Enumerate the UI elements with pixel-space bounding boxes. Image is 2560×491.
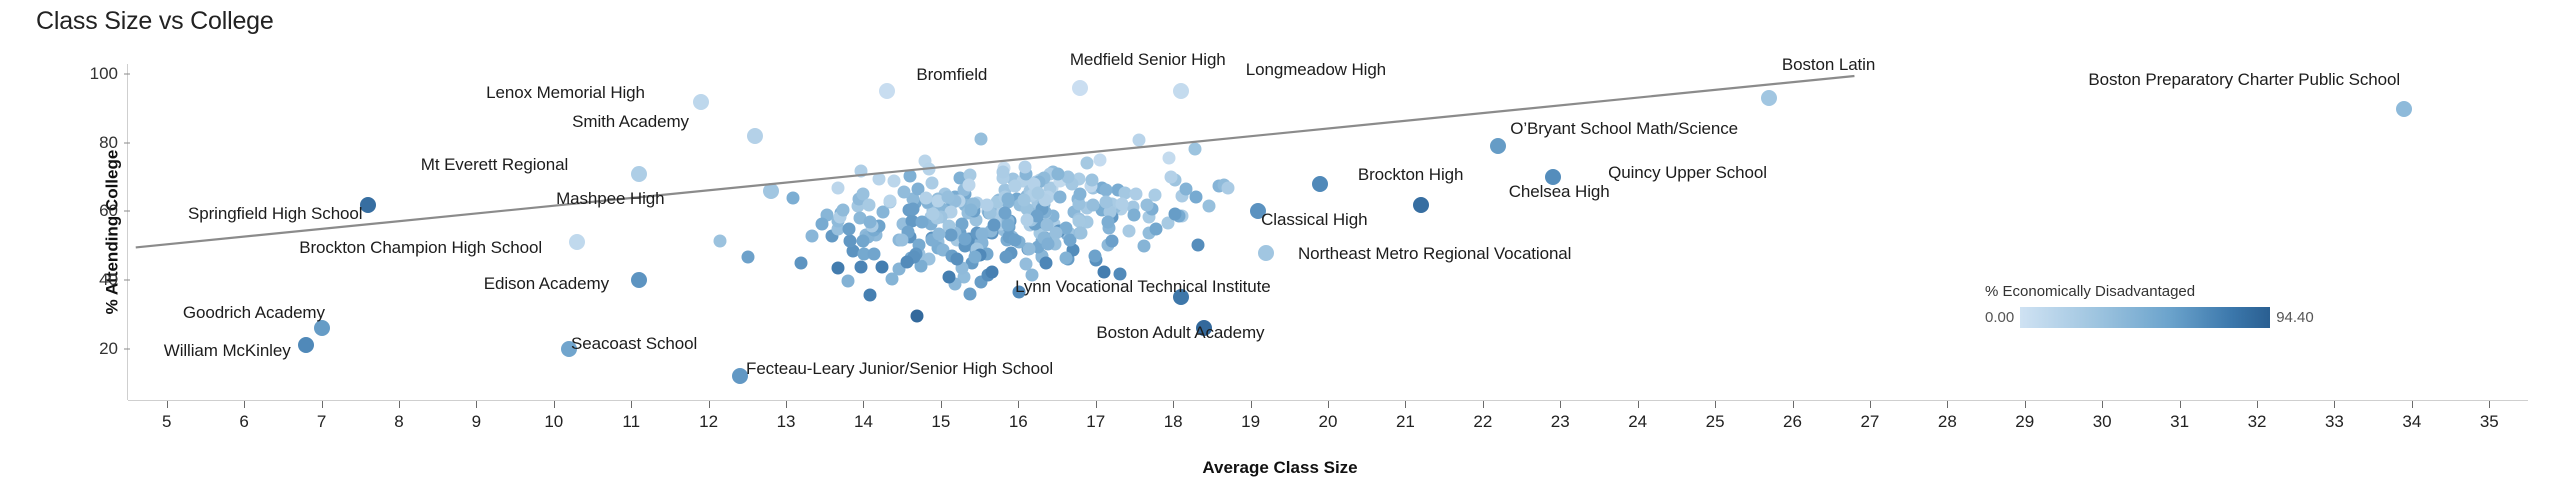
x-tick-mark <box>476 401 477 408</box>
scatter-point[interactable] <box>844 235 857 248</box>
x-tick-label: 34 <box>2402 412 2421 432</box>
scatter-point[interactable] <box>974 132 987 145</box>
point-label: Goodrich Academy <box>183 303 325 323</box>
scatter-point[interactable] <box>1141 199 1154 212</box>
scatter-point[interactable] <box>1086 198 1099 211</box>
point-label: Mashpee High <box>556 189 664 209</box>
x-tick-mark <box>631 401 632 408</box>
x-tick-label: 19 <box>1241 412 1260 432</box>
x-tick-mark <box>399 401 400 408</box>
scatter-point[interactable] <box>925 176 938 189</box>
scatter-point[interactable] <box>875 261 888 274</box>
x-tick-label: 27 <box>1860 412 1879 432</box>
point-label: Seacoast School <box>571 334 697 354</box>
x-tick-label: 33 <box>2325 412 2344 432</box>
scatter-point[interactable] <box>1018 160 1031 173</box>
legend-title: % Economically Disadvantaged <box>1985 283 2345 300</box>
x-tick-label: 18 <box>1164 412 1183 432</box>
scatter-point[interactable] <box>1074 226 1087 239</box>
scatter-point[interactable] <box>854 261 867 274</box>
point-label: Springfield High School <box>188 204 362 224</box>
x-tick-label: 29 <box>2015 412 2034 432</box>
point-label: Quincy Upper School <box>1608 163 1767 183</box>
x-tick-mark <box>1870 401 1871 408</box>
scatter-point[interactable] <box>1105 235 1118 248</box>
scatter-point[interactable] <box>1072 80 1088 96</box>
scatter-point[interactable] <box>1074 188 1087 201</box>
scatter-point[interactable] <box>933 227 946 240</box>
scatter-point[interactable] <box>964 204 977 217</box>
scatter-point[interactable] <box>831 261 844 274</box>
point-label: Classical High <box>1261 210 1367 230</box>
y-tick-label: 40 <box>99 270 118 290</box>
x-tick-mark <box>941 401 942 408</box>
scatter-point[interactable] <box>863 199 876 212</box>
scatter-point[interactable] <box>841 275 854 288</box>
x-tick-mark <box>167 401 168 408</box>
scatter-point[interactable] <box>1116 197 1129 210</box>
color-legend: % Economically Disadvantaged 0.00 94.40 <box>1985 283 2345 328</box>
scatter-point[interactable] <box>1180 183 1193 196</box>
scatter-point[interactable] <box>1132 133 1145 146</box>
scatter-point[interactable] <box>1085 173 1098 186</box>
scatter-point[interactable] <box>901 256 914 269</box>
legend-min-value: 0.00 <box>1985 309 2014 326</box>
x-tick-label: 28 <box>1938 412 1957 432</box>
scatter-point[interactable] <box>916 215 929 228</box>
scatter-point[interactable] <box>868 247 881 260</box>
x-tick-label: 12 <box>699 412 718 432</box>
x-tick-label: 35 <box>2480 412 2499 432</box>
scatter-point[interactable] <box>969 251 982 264</box>
scatter-point[interactable] <box>1040 256 1053 269</box>
scatter-points-layer <box>128 64 1940 399</box>
scatter-point[interactable] <box>1165 171 1178 184</box>
x-tick-mark <box>244 401 245 408</box>
point-label: Lenox Memorial High <box>486 83 645 103</box>
scatter-point[interactable] <box>1054 190 1067 203</box>
scatter-point[interactable] <box>1128 208 1141 221</box>
point-label: Brockton High <box>1358 165 1463 185</box>
scatter-point[interactable] <box>1189 142 1202 155</box>
scatter-point[interactable] <box>1001 219 1014 232</box>
scatter-point[interactable] <box>1202 200 1215 213</box>
scatter-point[interactable] <box>986 265 999 278</box>
scatter-point[interactable] <box>815 217 828 230</box>
point-label: Boston Preparatory Charter Public School <box>2088 70 2400 90</box>
scatter-point[interactable] <box>1169 207 1182 220</box>
x-tick-mark <box>2334 401 2335 408</box>
legend-gradient-bar <box>2020 307 2270 328</box>
x-tick-mark <box>1018 401 1019 408</box>
x-tick-label: 25 <box>1706 412 1725 432</box>
scatter-point[interactable] <box>942 271 955 284</box>
scatter-point[interactable] <box>713 235 726 248</box>
scatter-point[interactable] <box>1081 157 1094 170</box>
x-tick-mark <box>1793 401 1794 408</box>
scatter-point[interactable] <box>1021 214 1034 227</box>
scatter-point[interactable] <box>884 195 897 208</box>
x-tick-label: 26 <box>1783 412 1802 432</box>
x-tick-label: 6 <box>239 412 248 432</box>
scatter-point[interactable] <box>1002 192 1015 205</box>
scatter-point[interactable] <box>879 83 895 99</box>
x-tick-label: 8 <box>394 412 403 432</box>
point-label: Boston Adult Academy <box>1096 323 1264 343</box>
point-label: Chelsea High <box>1509 182 1610 202</box>
x-tick-label: 22 <box>1473 412 1492 432</box>
y-tick-label: 100 <box>90 64 118 84</box>
scatter-point[interactable] <box>1032 186 1045 199</box>
y-tick-label: 80 <box>99 133 118 153</box>
scatter-point[interactable] <box>832 182 845 195</box>
scatter-point[interactable] <box>837 203 850 216</box>
point-label: Medfield Senior High <box>1070 50 1226 70</box>
x-tick-mark <box>1638 401 1639 408</box>
scatter-point[interactable] <box>857 235 870 248</box>
scatter-point[interactable] <box>1490 138 1506 154</box>
point-label: William McKinley <box>164 341 291 361</box>
x-tick-mark <box>1096 401 1097 408</box>
x-tick-label: 5 <box>162 412 171 432</box>
scatter-point[interactable] <box>787 191 800 204</box>
scatter-point[interactable] <box>747 128 763 144</box>
point-label: Longmeadow High <box>1246 60 1386 80</box>
scatter-point[interactable] <box>1101 216 1114 229</box>
point-label: Smith Academy <box>572 112 689 132</box>
x-tick-mark <box>2025 401 2026 408</box>
scatter-point[interactable] <box>980 198 993 211</box>
x-tick-label: 13 <box>777 412 796 432</box>
plot-area[interactable] <box>128 64 1940 399</box>
scatter-point[interactable] <box>863 289 876 302</box>
scatter-point[interactable] <box>1129 188 1142 201</box>
x-tick-mark <box>1173 401 1174 408</box>
y-axis-title-holder: % Attending College <box>62 64 82 400</box>
point-label: Boston Latin <box>1782 55 1875 75</box>
scatter-point[interactable] <box>1122 224 1135 237</box>
scatter-point[interactable] <box>898 185 911 198</box>
scatter-point[interactable] <box>631 166 647 182</box>
x-tick-mark <box>2257 401 2258 408</box>
scatter-point[interactable] <box>1099 196 1112 209</box>
scatter-point[interactable] <box>1009 233 1022 246</box>
scatter-point[interactable] <box>963 288 976 301</box>
scatter-point[interactable] <box>842 223 855 236</box>
scatter-point[interactable] <box>1258 245 1274 261</box>
y-tick-label: 20 <box>99 339 118 359</box>
point-label: Bromfield <box>916 65 987 85</box>
x-tick-mark <box>322 401 323 408</box>
scatter-point[interactable] <box>906 203 919 216</box>
scatter-point[interactable] <box>996 165 1009 178</box>
scatter-point[interactable] <box>1761 90 1777 106</box>
x-tick-label: 11 <box>622 412 640 432</box>
scatter-point[interactable] <box>854 164 867 177</box>
scatter-point[interactable] <box>1191 238 1204 251</box>
scatter-point[interactable] <box>1162 152 1175 165</box>
scatter-point[interactable] <box>958 232 971 245</box>
x-axis-title: Average Class Size <box>0 458 2560 478</box>
scatter-point[interactable] <box>1221 182 1234 195</box>
scatter-point[interactable] <box>1093 154 1106 167</box>
scatter-point[interactable] <box>887 174 900 187</box>
scatter-point[interactable] <box>741 250 754 263</box>
scatter-point[interactable] <box>998 206 1011 219</box>
scatter-point[interactable] <box>298 337 314 353</box>
x-tick-label: 17 <box>1086 412 1105 432</box>
scatter-point[interactable] <box>903 169 916 182</box>
point-label: Northeast Metro Regional Vocational <box>1298 244 1571 264</box>
scatter-point[interactable] <box>1150 222 1163 235</box>
scatter-point[interactable] <box>763 183 779 199</box>
scatter-point[interactable] <box>1000 251 1013 264</box>
scatter-point[interactable] <box>1312 176 1328 192</box>
scatter-point[interactable] <box>896 234 909 247</box>
x-tick-mark <box>2412 401 2413 408</box>
scatter-point[interactable] <box>794 257 807 270</box>
scatter-point[interactable] <box>1041 237 1054 250</box>
scatter-point[interactable] <box>1173 83 1189 99</box>
chart-root: Class Size vs College % Attending Colleg… <box>0 0 2560 491</box>
x-tick-mark <box>1328 401 1329 408</box>
x-tick-mark <box>1560 401 1561 408</box>
scatter-point[interactable] <box>693 94 709 110</box>
scatter-point[interactable] <box>976 227 989 240</box>
scatter-point[interactable] <box>1019 258 1032 271</box>
scatter-point[interactable] <box>963 179 976 192</box>
x-tick-label: 23 <box>1551 412 1570 432</box>
scatter-point[interactable] <box>1088 249 1101 262</box>
point-label: Fecteau-Leary Junior/Senior High School <box>746 359 1053 379</box>
legend-max-value: 94.40 <box>2276 309 2314 326</box>
scatter-point[interactable] <box>864 215 877 228</box>
scatter-point[interactable] <box>806 229 819 242</box>
x-tick-label: 31 <box>2170 412 2189 432</box>
scatter-point[interactable] <box>944 229 957 242</box>
scatter-point[interactable] <box>631 272 647 288</box>
scatter-point[interactable] <box>951 252 964 265</box>
scatter-point[interactable] <box>987 218 1000 231</box>
point-label: Edison Academy <box>484 274 609 294</box>
scatter-point[interactable] <box>910 309 923 322</box>
point-label: Mt Everett Regional <box>421 155 568 175</box>
point-label: O’Bryant School Math/Science <box>1510 119 1738 139</box>
scatter-point[interactable] <box>2396 101 2412 117</box>
legend-scale: 0.00 94.40 <box>1985 307 2345 328</box>
x-tick-label: 21 <box>1396 412 1415 432</box>
x-tick-label: 20 <box>1319 412 1338 432</box>
x-tick-label: 16 <box>1009 412 1028 432</box>
x-tick-mark <box>1947 401 1948 408</box>
x-tick-label: 7 <box>317 412 326 432</box>
scatter-point[interactable] <box>1413 197 1429 213</box>
scatter-point[interactable] <box>1137 239 1150 252</box>
scatter-point[interactable] <box>1018 194 1031 207</box>
x-tick-mark <box>1483 401 1484 408</box>
x-tick-mark <box>1715 401 1716 408</box>
point-label: Brockton Champion High School <box>299 238 542 258</box>
scatter-point[interactable] <box>919 192 932 205</box>
scatter-point[interactable] <box>1190 191 1203 204</box>
scatter-point[interactable] <box>1052 167 1065 180</box>
x-tick-label: 24 <box>1628 412 1647 432</box>
page-title: Class Size vs College <box>36 7 274 36</box>
point-label: Lynn Vocational Technical Institute <box>1015 277 1270 297</box>
x-tick-mark <box>2180 401 2181 408</box>
x-tick-mark <box>786 401 787 408</box>
x-tick-mark <box>554 401 555 408</box>
x-tick-label: 14 <box>854 412 873 432</box>
scatter-point[interactable] <box>569 234 585 250</box>
x-tick-mark <box>1405 401 1406 408</box>
x-tick-mark <box>2102 401 2103 408</box>
x-tick-label: 10 <box>544 412 563 432</box>
x-tick-mark <box>1251 401 1252 408</box>
x-tick-label: 32 <box>2248 412 2267 432</box>
scatter-point[interactable] <box>942 191 955 204</box>
scatter-point[interactable] <box>923 162 936 175</box>
scatter-point[interactable] <box>873 172 886 185</box>
x-tick-mark <box>863 401 864 408</box>
scatter-point[interactable] <box>1059 252 1072 265</box>
x-tick-label: 9 <box>472 412 481 432</box>
y-tick-label: 60 <box>99 201 118 221</box>
x-tick-label: 30 <box>2093 412 2112 432</box>
x-tick-mark <box>2489 401 2490 408</box>
x-tick-label: 15 <box>931 412 950 432</box>
x-tick-mark <box>709 401 710 408</box>
scatter-point[interactable] <box>1008 180 1021 193</box>
